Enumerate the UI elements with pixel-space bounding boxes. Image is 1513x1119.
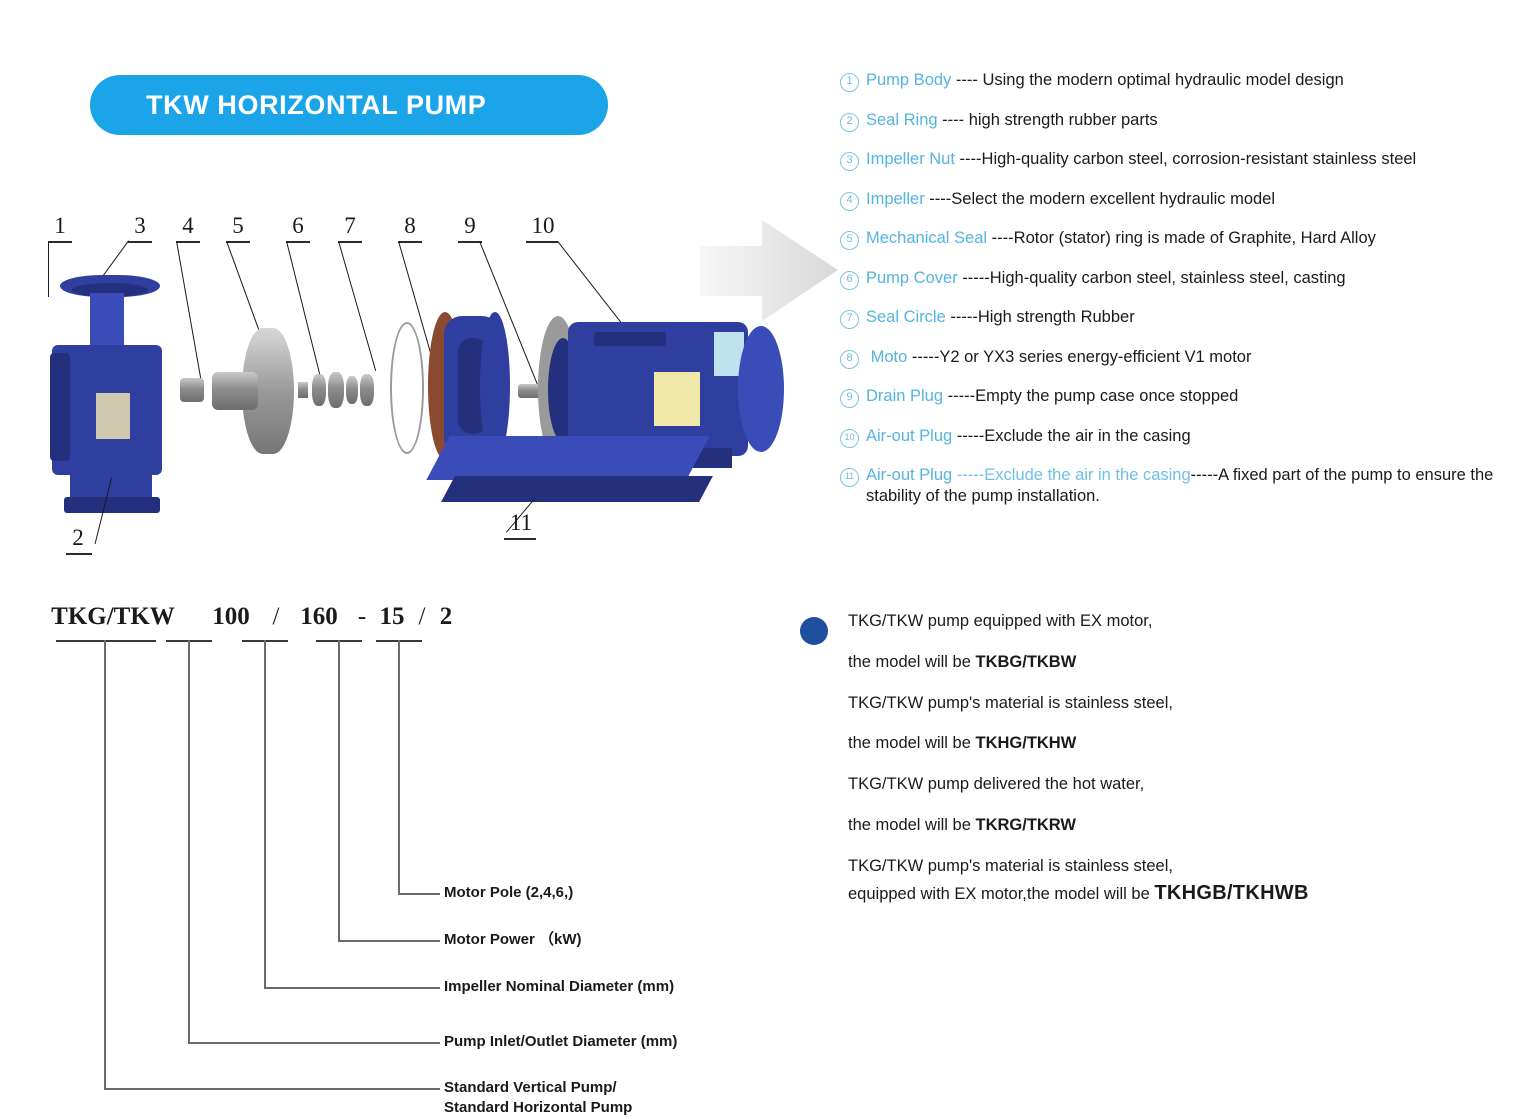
model-label-impeller-diameter: Impeller Nominal Diameter (mm) — [444, 977, 674, 997]
legend-description: High strength Rubber — [978, 308, 1135, 326]
legend-description: Using the modern optimal hydraulic model… — [982, 71, 1343, 89]
callout-4-underline — [176, 241, 200, 243]
legend-number-icon: 8 — [840, 350, 859, 369]
legend-dash: ---- — [938, 111, 969, 129]
legend-description: Exclude the air in the casing — [984, 427, 1190, 445]
legend-number-icon: 7 — [840, 310, 859, 329]
callout-1-leader — [48, 241, 49, 297]
seal-circle-oring — [390, 322, 424, 454]
legend-dash: ----- — [946, 308, 978, 326]
legend-number-icon: 2 — [840, 113, 859, 132]
note-line-4: the model will be TKHG/TKHW — [848, 734, 1440, 754]
model-token-power: 15 — [370, 603, 414, 631]
legend-part-name: Air-out Plug — [866, 427, 952, 445]
model-token-series: TKG/TKW — [48, 603, 178, 631]
legend-description: High-quality carbon steel, corrosion-res… — [982, 150, 1417, 168]
arrow-right-icon — [700, 218, 840, 323]
legend-description: Y2 or YX3 series energy-efficient V1 mot… — [939, 348, 1251, 366]
mechanical-seal-stack — [298, 368, 384, 412]
callout-6: 6 — [288, 213, 308, 239]
bullet-dot-icon — [800, 617, 828, 645]
legend-dash: ----- — [958, 269, 990, 287]
legend-part-name: Seal Ring — [866, 111, 938, 129]
callout-4: 4 — [178, 213, 198, 239]
callout-1: 1 — [50, 213, 70, 239]
legend-dash: ---- — [987, 229, 1014, 247]
legend-dash: ---- — [925, 190, 952, 208]
callout-11: 11 — [506, 510, 536, 536]
model-token-pole: 2 — [432, 603, 460, 631]
callout-8: 8 — [400, 213, 420, 239]
exploded-pump-diagram: 1 3 4 5 6 7 8 9 10 2 — [40, 210, 720, 560]
legend-part-name: Impeller Nut — [866, 150, 955, 168]
legend-item-6: 6 Pump Cover -----High-quality carbon st… — [840, 268, 1500, 290]
legend-part-name: Pump Body — [866, 71, 951, 89]
model-separator-1: / — [266, 603, 286, 631]
model-underline-series — [56, 640, 156, 642]
legend-part-name: Impeller — [866, 190, 925, 208]
legend-item-10: 10 Air-out Plug -----Exclude the air in … — [840, 426, 1500, 448]
legend-item-7: 7 Seal Circle -----High strength Rubber — [840, 307, 1500, 329]
legend-item-5: 5 Mechanical Seal ----Rotor (stator) rin… — [840, 228, 1500, 250]
callout-6-underline — [286, 241, 310, 243]
legend-number-icon: 9 — [840, 389, 859, 408]
legend-number-icon: 3 — [840, 152, 859, 171]
legend-part-name: Pump Cover — [866, 269, 958, 287]
legend-dash-2: ----- — [1191, 466, 1218, 484]
leader-power-horizontal — [338, 940, 440, 942]
legend-dash: ----- — [943, 387, 975, 405]
legend-item-4: 4 Impeller ----Select the modern excelle… — [840, 189, 1500, 211]
legend-part-name: Drain Plug — [866, 387, 943, 405]
leader-series-vertical — [104, 640, 106, 1089]
note-line-2: the model will be TKBG/TKBW — [848, 653, 1440, 673]
note-line-5: TKG/TKW pump delivered the hot water, — [848, 775, 1440, 795]
model-variant-code: TKRG/TKRW — [975, 816, 1076, 834]
note-line-8: equipped with EX motor,the model will be… — [848, 881, 1440, 905]
note-line-6: the model will be TKRG/TKRW — [848, 816, 1440, 836]
callout-2: 2 — [68, 525, 88, 551]
model-label-standard-pump: Standard Vertical Pump/ Standard Horizon… — [444, 1078, 632, 1119]
legend-number-icon: 11 — [840, 468, 859, 487]
leader-impeller-horizontal — [264, 987, 440, 989]
impeller-nut — [180, 378, 204, 402]
legend-dash: ---- — [955, 150, 982, 168]
model-token-impeller: 160 — [288, 603, 350, 631]
model-variant-notes: TKG/TKW pump equipped with EX motor, the… — [800, 612, 1440, 926]
leader-series-horizontal — [104, 1088, 440, 1090]
leader-inlet-horizontal — [188, 1042, 440, 1044]
page-title: TKW HORIZONTAL PUMP — [146, 90, 486, 121]
model-label-inlet-diameter: Pump Inlet/Outlet Diameter (mm) — [444, 1032, 677, 1052]
leader-power-vertical — [338, 640, 340, 941]
legend-item-3: 3 Impeller Nut ----High-quality carbon s… — [840, 149, 1500, 171]
pump-casing — [50, 275, 170, 525]
callout-8-underline — [398, 241, 422, 243]
legend-number-icon: 4 — [840, 192, 859, 211]
parts-legend-list: 1 Pump Body ---- Using the modern optima… — [840, 70, 1500, 524]
legend-number-icon: 10 — [840, 429, 859, 448]
callout-3-underline — [128, 241, 152, 243]
callout-2-underline — [66, 553, 92, 555]
callout-1-underline — [48, 241, 72, 243]
legend-dash: ----- — [952, 427, 984, 445]
legend-description: high strength rubber parts — [969, 111, 1158, 129]
impeller — [212, 328, 294, 454]
callout-7-leader — [338, 241, 376, 371]
legend-item-8: 8 Moto -----Y2 or YX3 series energy-effi… — [840, 347, 1500, 369]
legend-item-11: 11 Air-out Plug -----Exclude the air in … — [840, 465, 1500, 506]
leader-impeller-vertical — [264, 640, 266, 988]
page-title-banner: TKW HORIZONTAL PUMP — [90, 75, 608, 135]
legend-dash: ---- — [951, 71, 982, 89]
model-token-inlet: 100 — [200, 603, 262, 631]
model-label-motor-pole: Motor Pole (2,4,6,) — [444, 883, 573, 903]
callout-4-leader — [176, 241, 202, 379]
legend-dash: ----- — [907, 348, 939, 366]
model-label-motor-power: Motor Power （kW) — [444, 930, 582, 950]
callout-5-underline — [226, 241, 250, 243]
model-variant-code: TKHG/TKHW — [975, 734, 1076, 752]
model-separator-3: / — [412, 603, 432, 631]
note-line-1: TKG/TKW pump equipped with EX motor, — [848, 612, 1440, 632]
legend-part-name: Seal Circle — [866, 308, 946, 326]
leader-inlet-vertical — [188, 640, 190, 1043]
callout-5: 5 — [228, 213, 248, 239]
callout-10-underline — [526, 241, 558, 243]
model-variant-code: TKBG/TKBW — [975, 653, 1076, 671]
callout-11-underline — [504, 538, 536, 540]
callout-9: 9 — [460, 213, 480, 239]
callout-3: 3 — [130, 213, 150, 239]
legend-item-1: 1 Pump Body ---- Using the modern optima… — [840, 70, 1500, 92]
callout-7: 7 — [340, 213, 360, 239]
note-line-7: TKG/TKW pump's material is stainless ste… — [848, 857, 1440, 877]
legend-part-name: Moto — [871, 348, 908, 366]
leader-pole-vertical — [398, 640, 400, 894]
legend-blue-description: Exclude the air in the casing — [984, 466, 1190, 484]
legend-number-icon: 5 — [840, 231, 859, 250]
legend-part-name: Air-out Plug — [866, 466, 952, 484]
legend-part-name: Mechanical Seal — [866, 229, 987, 247]
legend-number-icon: 6 — [840, 271, 859, 290]
legend-description: High-quality carbon steel, stainless ste… — [990, 269, 1346, 287]
model-variant-code-highlight: TKHGB/TKHWB — [1154, 882, 1308, 904]
base-plate — [438, 436, 738, 508]
legend-description: Empty the pump case once stopped — [975, 387, 1238, 405]
leader-pole-horizontal — [398, 893, 440, 895]
model-code-breakdown: TKG/TKW 100 / 160 - 15 / 2 Motor Pole (2… — [40, 595, 740, 965]
legend-item-2: 2 Seal Ring ---- high strength rubber pa… — [840, 110, 1500, 132]
legend-item-9: 9 Drain Plug -----Empty the pump case on… — [840, 386, 1500, 408]
legend-dash: ----- — [952, 466, 984, 484]
legend-description: Rotor (stator) ring is made of Graphite,… — [1014, 229, 1376, 247]
callout-10: 10 — [528, 213, 558, 239]
legend-number-icon: 1 — [840, 73, 859, 92]
callout-7-underline — [338, 241, 362, 243]
note-line-3: TKG/TKW pump's material is stainless ste… — [848, 694, 1440, 714]
model-separator-2: - — [352, 603, 372, 631]
legend-description: Select the modern excellent hydraulic mo… — [951, 190, 1275, 208]
